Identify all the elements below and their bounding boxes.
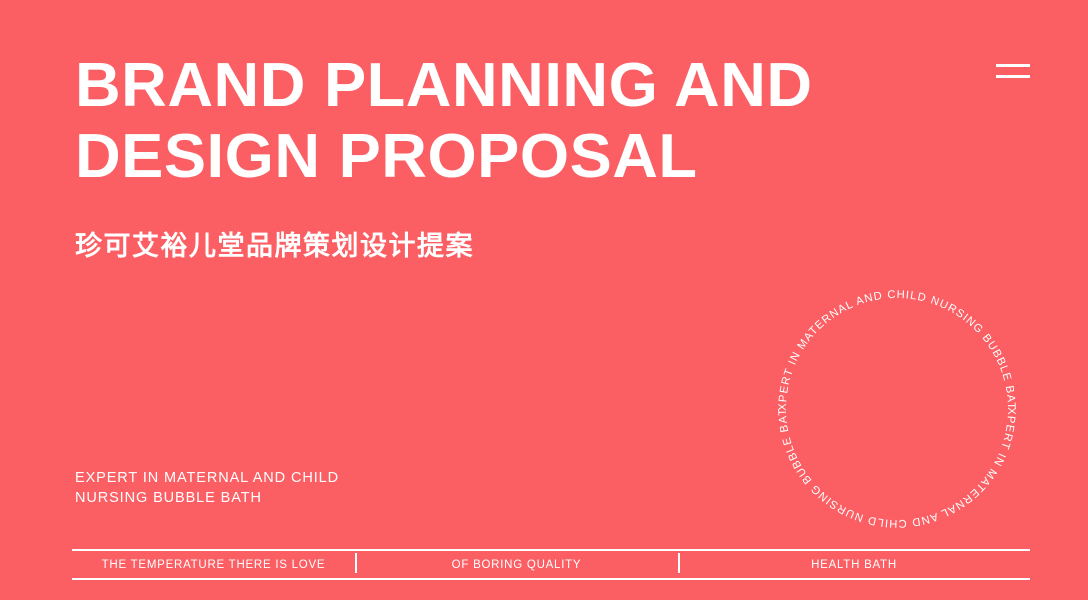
- menu-bar-bottom: [996, 75, 1030, 78]
- bottom-bar-divider-1: [355, 553, 357, 573]
- bottom-bar-item-1[interactable]: THE TEMPERATURE THERE IS LOVE: [72, 551, 355, 578]
- hamburger-menu-icon[interactable]: [996, 64, 1030, 80]
- bottom-bar-divider-2: [678, 553, 680, 573]
- bottom-bar-item-3[interactable]: HEALTH BATH: [678, 551, 1030, 578]
- bottom-bar-items: THE TEMPERATURE THERE IS LOVE OF BORING …: [72, 551, 1030, 578]
- bottom-bar-bottom-rule: [72, 578, 1030, 580]
- title-line-2: DESIGN PROPOSAL: [75, 121, 922, 192]
- slide-canvas: BRAND PLANNING AND DESIGN PROPOSAL 珍可艾裕儿…: [0, 0, 1088, 600]
- tagline-line-1: EXPERT IN MATERNAL AND CHILD: [75, 468, 405, 488]
- circle-text-bottom: EXPERT IN MATERNAL AND CHILD NURSING BUB…: [767, 275, 1017, 529]
- bottom-bar-item-2[interactable]: OF BORING QUALITY: [355, 551, 678, 578]
- title-line-1: BRAND PLANNING AND: [75, 50, 922, 121]
- circle-text-top: EXPERT IN MATERNAL AND CHILD NURSING BUB…: [767, 275, 1017, 411]
- tagline-line-2: NURSING BUBBLE BATH: [75, 488, 405, 508]
- circle-text-bottom-path: EXPERT IN MATERNAL AND CHILD NURSING BUB…: [767, 275, 1017, 529]
- circle-text-top-path: EXPERT IN MATERNAL AND CHILD NURSING BUB…: [767, 275, 1017, 411]
- tagline: EXPERT IN MATERNAL AND CHILD NURSING BUB…: [75, 468, 405, 508]
- menu-bar-top: [996, 64, 1030, 67]
- page-title: BRAND PLANNING AND DESIGN PROPOSAL: [75, 50, 905, 192]
- circular-text-badge: EXPERT IN MATERNAL AND CHILD NURSING BUB…: [772, 284, 1022, 534]
- bottom-bar: THE TEMPERATURE THERE IS LOVE OF BORING …: [72, 549, 1030, 580]
- subtitle-chinese: 珍可艾裕儿堂品牌策划设计提案: [75, 228, 474, 266]
